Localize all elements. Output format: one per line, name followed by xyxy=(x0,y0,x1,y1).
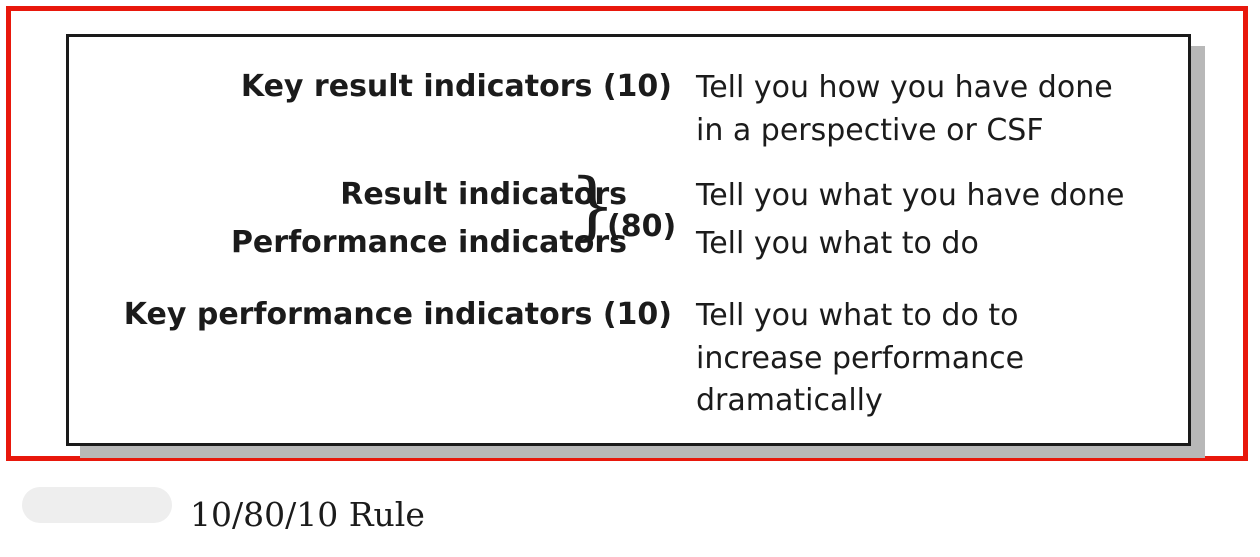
description-performance-indicators: Tell you what to do xyxy=(696,223,979,266)
label-key-performance-indicators: Key performance indicators (10) xyxy=(124,297,672,332)
description-key-performance-indicators: Tell you what to do to increase performa… xyxy=(696,295,1024,423)
diagram-box: Key result indicators (10) Tell you how … xyxy=(66,34,1191,446)
description-result-indicators: Tell you what you have done xyxy=(696,175,1124,218)
caption-decoration xyxy=(22,487,172,523)
figure-caption: 10/80/10 Rule xyxy=(190,495,425,534)
brace-count-label: (80) xyxy=(607,209,676,244)
description-key-result-indicators: Tell you how you have done in a perspect… xyxy=(696,67,1113,152)
label-performance-indicators: Performance indicators xyxy=(231,225,627,260)
label-key-result-indicators: Key result indicators (10) xyxy=(241,69,672,104)
diagram-content: Key result indicators (10) Tell you how … xyxy=(69,37,1188,443)
